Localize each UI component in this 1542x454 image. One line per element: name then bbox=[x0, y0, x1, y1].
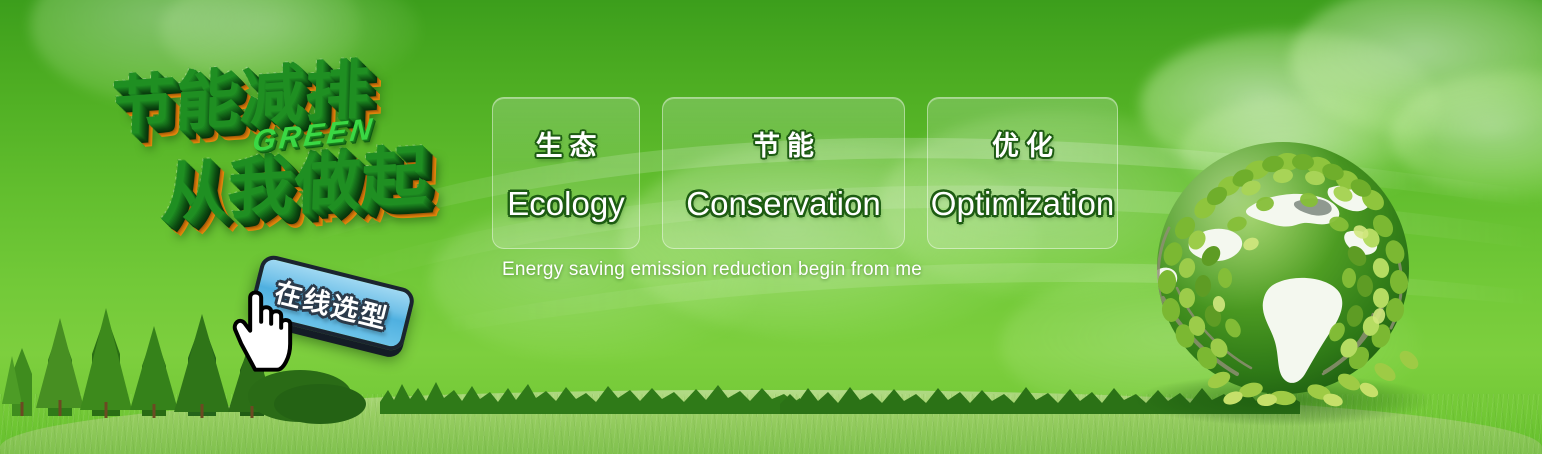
tagline: Energy saving emission reduction begin f… bbox=[502, 259, 922, 281]
feature-card-optimization[interactable]: 优化 Optimization bbox=[927, 97, 1118, 249]
feature-card-row: 生态 Ecology 节能 Conservation 优化 Optimizati… bbox=[492, 97, 1118, 249]
feature-card-title-cn: 生态 bbox=[529, 124, 604, 163]
cloud-icon bbox=[1290, 0, 1542, 140]
feature-card-title-en: Conservation bbox=[686, 185, 880, 223]
feature-card-title-en: Optimization bbox=[931, 185, 1114, 223]
feature-card-title-en: Ecology bbox=[507, 185, 624, 223]
green-energy-banner: 节能减排 GREEN 从我做起 在线选型 生态 Ecology 节能 Conse… bbox=[0, 0, 1542, 454]
online-selection-cta[interactable]: 在线选型 bbox=[246, 253, 427, 365]
feature-card-title-cn: 节能 bbox=[746, 124, 821, 163]
hand-pointer-cursor-icon bbox=[231, 286, 301, 372]
feature-card-conservation[interactable]: 节能 Conservation bbox=[662, 97, 905, 249]
headline-3d: 节能减排 GREEN 从我做起 bbox=[97, 29, 502, 281]
leafy-green-globe-icon bbox=[1133, 128, 1433, 434]
feature-card-ecology[interactable]: 生态 Ecology bbox=[492, 97, 640, 249]
feature-card-title-cn: 优化 bbox=[985, 124, 1060, 163]
